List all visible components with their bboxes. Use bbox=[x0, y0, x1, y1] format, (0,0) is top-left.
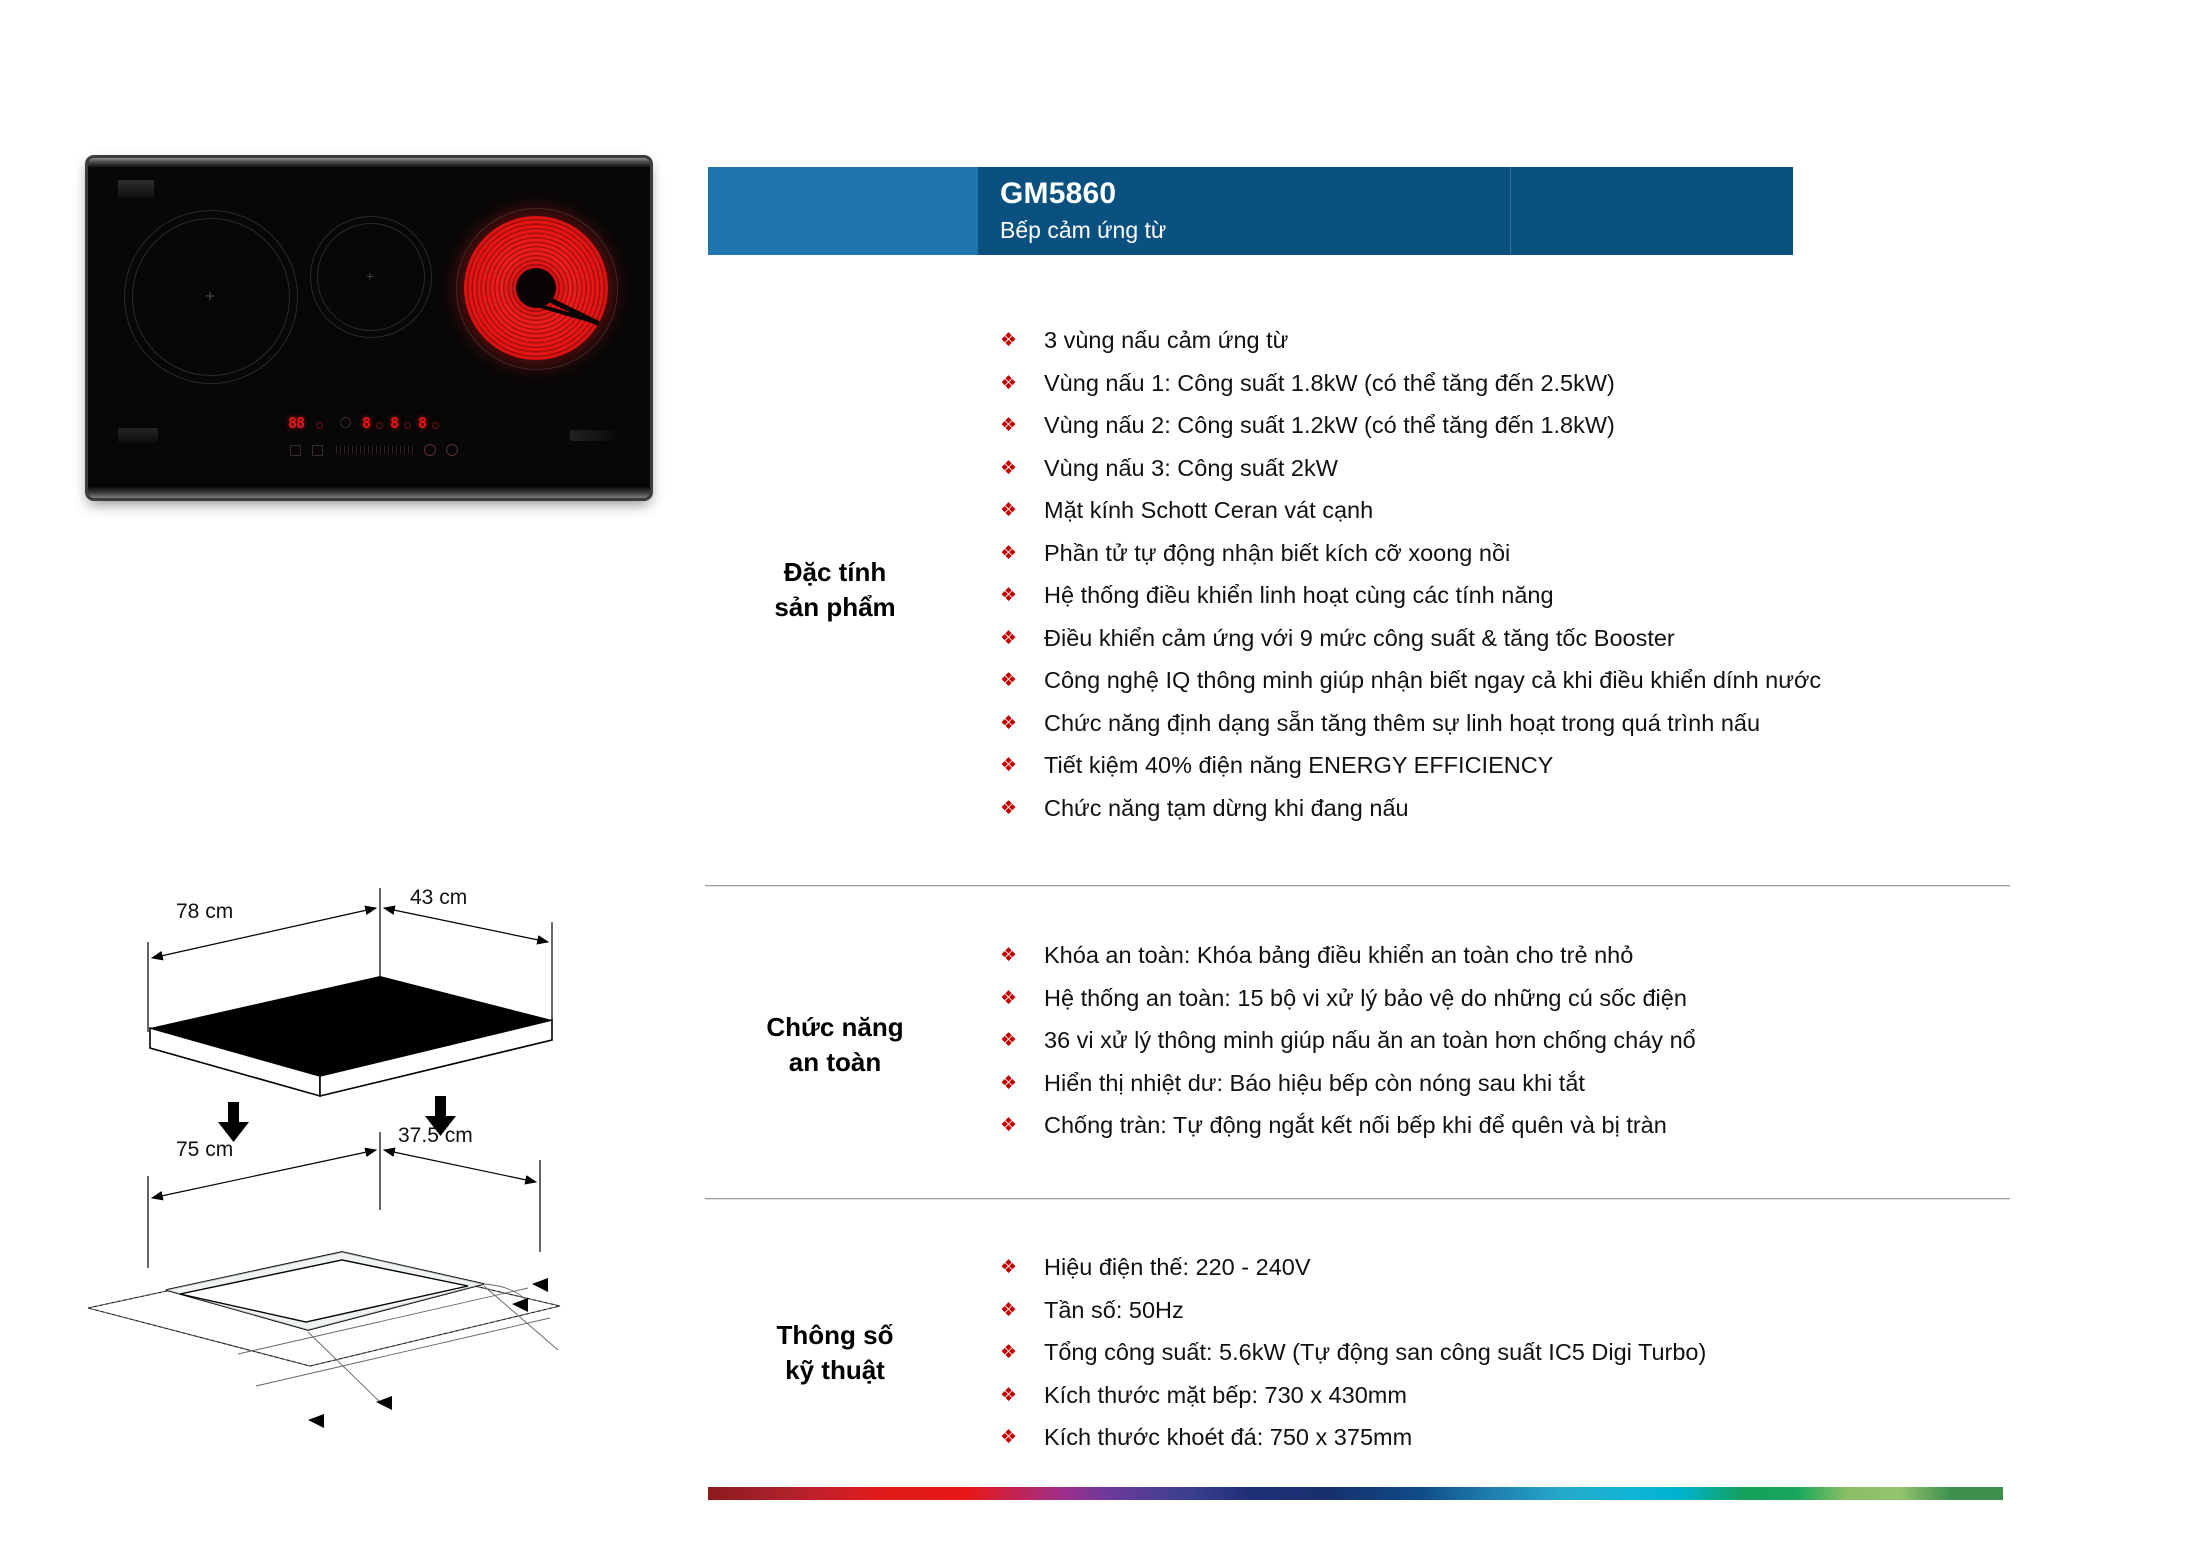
list-item-text: Hiển thị nhiệt dư: Báo hiệu bếp còn nóng… bbox=[1044, 1068, 1585, 1098]
lock-button-icon[interactable] bbox=[312, 445, 323, 456]
list-item-text: Chức năng định dạng sẵn tăng thêm sự lin… bbox=[1044, 708, 1760, 738]
list-item-text: Chức năng tạm dừng khi đang nấu bbox=[1044, 793, 1409, 823]
list-item-text: Vùng nấu 2: Công suất 1.2kW (có thể tăng… bbox=[1044, 410, 1615, 440]
list-item: ❖ Chức năng tạm dừng khi đang nấu bbox=[1000, 793, 2209, 823]
led-zone-2-display: 8 bbox=[390, 414, 398, 432]
section-title-features: Đặc tính sản phẩm bbox=[705, 555, 965, 625]
power-slider-touch-strip[interactable] bbox=[336, 446, 414, 454]
pan-detect-icon bbox=[340, 417, 351, 428]
zone-3-indicator-dot bbox=[432, 422, 439, 429]
section-divider-2 bbox=[705, 1198, 2010, 1200]
list-item: ❖ Công nghệ IQ thông minh giúp nhận biết… bbox=[1000, 665, 2209, 695]
diamond-bullet-icon: ❖ bbox=[1000, 410, 1044, 440]
list-item: ❖ Hiển thị nhiệt dư: Báo hiệu bếp còn nó… bbox=[1000, 1068, 2209, 1098]
dimension-label-cutout-width: 75 cm bbox=[176, 1138, 233, 1162]
diamond-bullet-icon: ❖ bbox=[1000, 495, 1044, 525]
cooktop-glass-surface: + + 88 8 8 8 bbox=[88, 158, 650, 498]
product-photo: + + 88 8 8 8 bbox=[88, 158, 650, 498]
cooktop-bottom-bevel bbox=[88, 487, 650, 498]
diamond-bullet-icon: ❖ bbox=[1000, 623, 1044, 653]
cooking-zone-2-center-cross: + bbox=[366, 270, 374, 283]
list-item: ❖ Vùng nấu 2: Công suất 1.2kW (có thể tă… bbox=[1000, 410, 2209, 440]
list-item: ❖ Hệ thống an toàn: 15 bộ vi xử lý bảo v… bbox=[1000, 983, 2209, 1013]
list-item: ❖ Kích thước mặt bếp: 730 x 430mm bbox=[1000, 1380, 2209, 1410]
list-item: ❖ Hệ thống điều khiển linh hoạt cùng các… bbox=[1000, 580, 2209, 610]
section-title-specs-line2: kỹ thuật bbox=[705, 1353, 965, 1388]
cooktop-control-panel[interactable]: 88 8 8 8 bbox=[278, 414, 478, 464]
section-title-features-line2: sản phẩm bbox=[705, 590, 965, 625]
list-item: ❖ Tiết kiệm 40% điện năng ENERGY EFFICIE… bbox=[1000, 750, 2209, 780]
diamond-bullet-icon: ❖ bbox=[1000, 538, 1044, 568]
list-item: ❖ Mặt kính Schott Ceran vát cạnh bbox=[1000, 495, 2209, 525]
dimension-label-depth: 43 cm bbox=[410, 886, 467, 910]
cooking-zone-1-center-cross: + bbox=[205, 288, 215, 305]
header-vertical-divider bbox=[1510, 167, 1511, 255]
cooktop-model-mark bbox=[570, 430, 616, 441]
list-item-text: Tổng công suất: 5.6kW (Tự động san công … bbox=[1044, 1337, 1706, 1367]
list-item-text: 3 vùng nấu cảm ứng từ bbox=[1044, 325, 1288, 355]
diamond-bullet-icon: ❖ bbox=[1000, 1110, 1044, 1140]
diamond-bullet-icon: ❖ bbox=[1000, 325, 1044, 355]
section-title-specs-line1: Thông số bbox=[705, 1318, 965, 1353]
section-title-safety-line2: an toàn bbox=[705, 1045, 965, 1080]
diamond-bullet-icon: ❖ bbox=[1000, 708, 1044, 738]
diamond-bullet-icon: ❖ bbox=[1000, 940, 1044, 970]
list-item: ❖ Điều khiển cảm ứng với 9 mức công suất… bbox=[1000, 623, 2209, 653]
power-button-icon[interactable] bbox=[446, 444, 458, 456]
list-item-text: 36 vi xử lý thông minh giúp nấu ăn an to… bbox=[1044, 1025, 1696, 1055]
list-item-text: Kích thước khoét đá: 750 x 375mm bbox=[1044, 1422, 1412, 1452]
timer-indicator-dot bbox=[316, 422, 323, 429]
zone-2-indicator-dot bbox=[404, 422, 411, 429]
section-title-specs: Thông số kỹ thuật bbox=[705, 1318, 965, 1388]
cooktop-top-bevel bbox=[88, 158, 650, 167]
list-item-text: Mặt kính Schott Ceran vát cạnh bbox=[1044, 495, 1373, 525]
section-title-features-line1: Đặc tính bbox=[705, 555, 965, 590]
list-item: ❖ Vùng nấu 1: Công suất 1.8kW (có thể tă… bbox=[1000, 368, 2209, 398]
list-item: ❖ Chức năng định dạng sẵn tăng thêm sự l… bbox=[1000, 708, 2209, 738]
timer-button-icon[interactable] bbox=[290, 445, 301, 456]
list-item-text: Vùng nấu 1: Công suất 1.8kW (có thể tăng… bbox=[1044, 368, 1615, 398]
diamond-bullet-icon: ❖ bbox=[1000, 1422, 1044, 1452]
dimension-diagram-svg bbox=[80, 880, 660, 1480]
list-item: ❖ Chống tràn: Tự động ngắt kết nối bếp k… bbox=[1000, 1110, 2209, 1140]
product-model-name: GM5860 bbox=[1000, 177, 1116, 211]
cooktop-brand-logo bbox=[118, 428, 158, 443]
list-item: ❖ Hiệu điện thế: 220 - 240V bbox=[1000, 1252, 2209, 1282]
led-timer-display: 88 bbox=[288, 414, 304, 432]
footer-color-bar bbox=[708, 1487, 2003, 1500]
list-item: ❖ 3 vùng nấu cảm ứng từ bbox=[1000, 325, 2209, 355]
safety-list: ❖ Khóa an toàn: Khóa bảng điều khiển an … bbox=[1000, 940, 2209, 1153]
list-item: ❖ Tần số: 50Hz bbox=[1000, 1295, 2209, 1325]
pause-button-icon[interactable] bbox=[424, 444, 436, 456]
product-type-subtitle: Bếp cảm ứng từ bbox=[1000, 217, 1166, 244]
section-title-safety-line1: Chức năng bbox=[705, 1010, 965, 1045]
list-item-text: Công nghệ IQ thông minh giúp nhận biết n… bbox=[1044, 665, 1821, 695]
list-item: ❖ Vùng nấu 3: Công suất 2kW bbox=[1000, 453, 2209, 483]
diamond-bullet-icon: ❖ bbox=[1000, 1252, 1044, 1282]
dimension-diagram: 78 cm 43 cm 75 cm 37.5 cm bbox=[80, 880, 660, 1480]
list-item: ❖ Phần tử tự động nhận biết kích cỡ xoon… bbox=[1000, 538, 2209, 568]
diamond-bullet-icon: ❖ bbox=[1000, 1337, 1044, 1367]
flow-arrow-left bbox=[218, 1102, 249, 1142]
dimension-label-width: 78 cm bbox=[176, 900, 233, 924]
list-item-text: Hệ thống an toàn: 15 bộ vi xử lý bảo vệ … bbox=[1044, 983, 1687, 1013]
list-item-text: Vùng nấu 3: Công suất 2kW bbox=[1044, 453, 1338, 483]
list-item-text: Tiết kiệm 40% điện năng ENERGY EFFICIENC… bbox=[1044, 750, 1553, 780]
diamond-bullet-icon: ❖ bbox=[1000, 453, 1044, 483]
list-item: ❖ Khóa an toàn: Khóa bảng điều khiển an … bbox=[1000, 940, 2209, 970]
dimension-label-cutout-depth: 37.5 cm bbox=[398, 1124, 473, 1148]
list-item-text: Tần số: 50Hz bbox=[1044, 1295, 1184, 1325]
spec-list: ❖ Hiệu điện thế: 220 - 240V ❖ Tần số: 50… bbox=[1000, 1252, 2209, 1465]
diamond-bullet-icon: ❖ bbox=[1000, 1295, 1044, 1325]
section-divider-1 bbox=[705, 885, 2010, 887]
product-header-banner: GM5860 Bếp cảm ứng từ bbox=[708, 167, 1793, 255]
cooktop-brand-mark-top-left bbox=[118, 180, 154, 198]
section-title-safety: Chức năng an toàn bbox=[705, 1010, 965, 1080]
diamond-bullet-icon: ❖ bbox=[1000, 665, 1044, 695]
feature-list: ❖ 3 vùng nấu cảm ứng từ ❖ Vùng nấu 1: Cô… bbox=[1000, 325, 2209, 835]
zone-1-indicator-dot bbox=[376, 422, 383, 429]
led-zone-3-display: 8 bbox=[418, 414, 426, 432]
diamond-bullet-icon: ❖ bbox=[1000, 1025, 1044, 1055]
led-zone-1-display: 8 bbox=[362, 414, 370, 432]
diamond-bullet-icon: ❖ bbox=[1000, 1380, 1044, 1410]
list-item-text: Điều khiển cảm ứng với 9 mức công suất &… bbox=[1044, 623, 1675, 653]
list-item-text: Phần tử tự động nhận biết kích cỡ xoong … bbox=[1044, 538, 1510, 568]
list-item-text: Khóa an toàn: Khóa bảng điều khiển an to… bbox=[1044, 940, 1633, 970]
diamond-bullet-icon: ❖ bbox=[1000, 750, 1044, 780]
diamond-bullet-icon: ❖ bbox=[1000, 1068, 1044, 1098]
list-item: ❖ 36 vi xử lý thông minh giúp nấu ăn an … bbox=[1000, 1025, 2209, 1055]
list-item: ❖ Kích thước khoét đá: 750 x 375mm bbox=[1000, 1422, 2209, 1452]
list-item-text: Hệ thống điều khiển linh hoạt cùng các t… bbox=[1044, 580, 1554, 610]
diamond-bullet-icon: ❖ bbox=[1000, 580, 1044, 610]
list-item-text: Kích thước mặt bếp: 730 x 430mm bbox=[1044, 1380, 1407, 1410]
diamond-bullet-icon: ❖ bbox=[1000, 983, 1044, 1013]
list-item-text: Hiệu điện thế: 220 - 240V bbox=[1044, 1252, 1311, 1282]
diamond-bullet-icon: ❖ bbox=[1000, 368, 1044, 398]
list-item-text: Chống tràn: Tự động ngắt kết nối bếp khi… bbox=[1044, 1110, 1667, 1140]
diamond-bullet-icon: ❖ bbox=[1000, 793, 1044, 823]
list-item: ❖ Tổng công suất: 5.6kW (Tự động san côn… bbox=[1000, 1337, 2209, 1367]
